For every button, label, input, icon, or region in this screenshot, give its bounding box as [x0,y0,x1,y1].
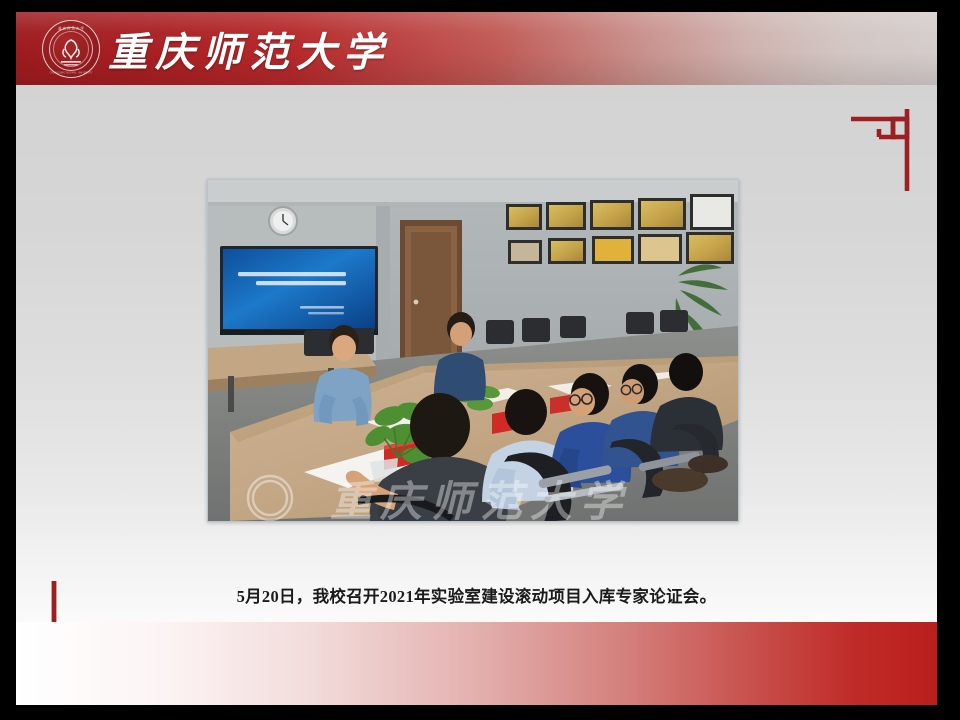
svg-text:重庆师范大学: 重庆师范大学 [330,477,630,521]
footer-band [16,622,937,705]
university-seal-icon: 重 庆 师 范 大 学 CHONGQING NORMAL UNIVERSITY [42,20,100,78]
corner-ornament-icon [849,107,921,193]
meeting-photo: 重庆师范大学 [207,179,739,522]
page-title: 重庆师范大学 [108,14,390,83]
slide-frame: 重 庆 师 范 大 学 CHONGQING NORMAL UNIVERSITY … [16,12,937,705]
slide-body: 重庆师范大学 5月20日，我校召开2021年实验室建设滚动项目入库专家论证会。 [16,85,937,705]
header-banner: 重 庆 师 范 大 学 CHONGQING NORMAL UNIVERSITY … [16,12,937,85]
svg-text:重 庆 师 范 大 学: 重 庆 师 范 大 学 [58,26,84,31]
svg-text:CHONGQING NORMAL UNIVERSITY: CHONGQING NORMAL UNIVERSITY [49,70,93,74]
photo-caption: 5月20日，我校召开2021年实验室建设滚动项目入库专家论证会。 [16,583,937,607]
